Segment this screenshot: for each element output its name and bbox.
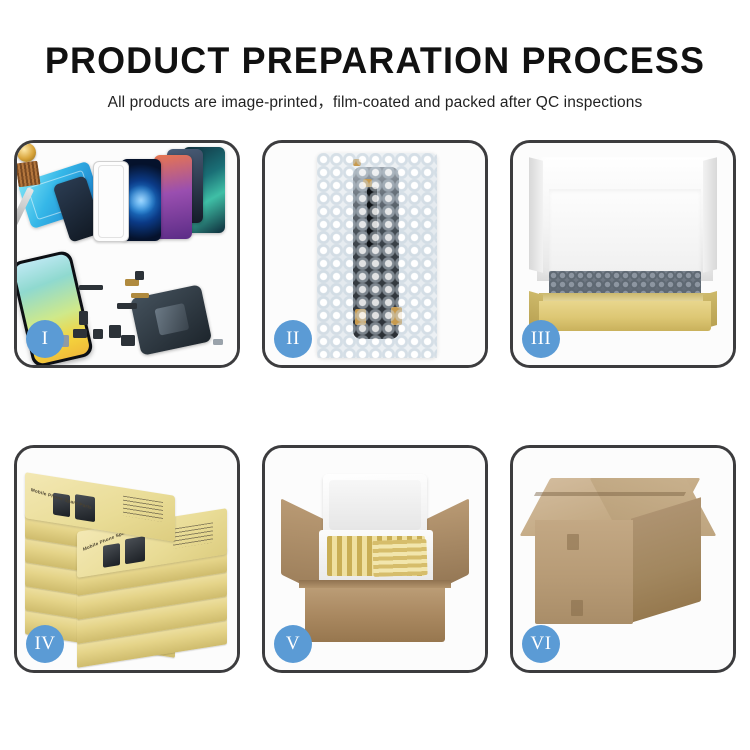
box-print-thumbnail <box>103 543 120 568</box>
gold-connector <box>355 309 366 325</box>
foam-box-lid <box>323 474 427 536</box>
tempered-glass-panel <box>93 161 129 242</box>
lid-right-flap <box>703 157 717 272</box>
speaker-coil-part <box>17 143 36 162</box>
spare-part-chip <box>79 285 103 290</box>
spare-part-chip <box>121 335 135 346</box>
outer-carton-body <box>305 580 445 642</box>
lid-left-flap <box>529 157 543 272</box>
logic-board-part <box>17 161 41 188</box>
page-subtitle: All products are image-printed，film-coat… <box>0 81 750 112</box>
box-print-thumbnail <box>125 536 145 564</box>
process-step-3: III <box>510 140 736 368</box>
step-badge-2: II <box>274 320 312 358</box>
process-step-2: II <box>262 140 488 368</box>
box-print-text-lines <box>123 496 163 522</box>
spare-part-chip <box>131 293 149 298</box>
bubble-wrap-bag <box>317 153 437 358</box>
spare-part-chip <box>125 279 139 286</box>
carton-right-side <box>631 497 701 622</box>
step-badge-6: VI <box>522 625 560 663</box>
step-badge-1: I <box>26 320 64 358</box>
process-steps-grid: I II III <box>14 140 736 673</box>
step-badge-4: IV <box>26 625 64 663</box>
process-step-1: I <box>14 140 240 368</box>
yellow-boxes-in-foam <box>372 539 427 577</box>
carton-tape-mark <box>567 534 579 550</box>
white-foam-liner <box>549 189 701 273</box>
spare-part-chip <box>117 303 137 309</box>
process-step-4: Mobile Phone Spare Parts Mobile Phone Sp… <box>14 445 240 673</box>
page-title: PRODUCT PREPARATION PROCESS <box>11 0 739 81</box>
step-badge-3: III <box>522 320 560 358</box>
flex-cable <box>367 187 377 247</box>
gold-connector <box>391 307 402 325</box>
process-step-6: VI <box>510 445 736 673</box>
spare-part-chip <box>79 311 88 325</box>
box-print-text-lines <box>173 522 213 548</box>
kraft-box-front <box>539 301 711 331</box>
spare-part-chip <box>73 329 87 338</box>
gold-connector <box>353 159 361 166</box>
process-step-5: V <box>262 445 488 673</box>
spare-part-chip <box>93 329 103 339</box>
spare-part-chip <box>109 325 121 338</box>
carton-top-seam <box>534 492 686 496</box>
carton-tape-mark <box>571 600 583 616</box>
carton-front-face <box>535 520 633 624</box>
step-badge-5: V <box>274 625 312 663</box>
page-header: PRODUCT PREPARATION PROCESS All products… <box>0 0 750 112</box>
gold-connector <box>363 179 372 187</box>
spare-part-chip <box>213 339 223 345</box>
spare-part-chip <box>135 271 144 280</box>
